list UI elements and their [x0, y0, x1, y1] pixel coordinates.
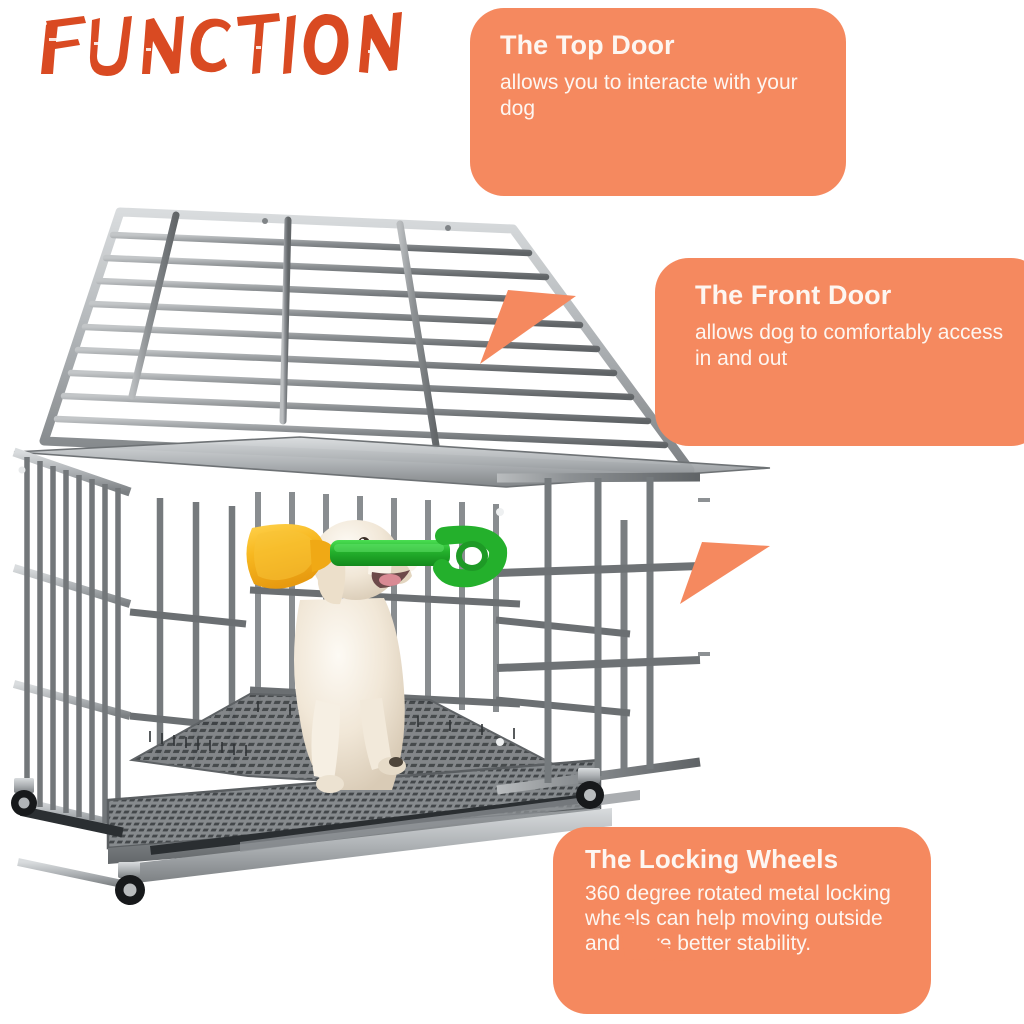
caster-wheel-front-right [576, 768, 604, 809]
left-side-panel [14, 452, 130, 828]
caster-wheel-rear-left [11, 778, 37, 816]
callout-locking-wheels-heading: The Locking Wheels [585, 845, 911, 875]
callout-front-door-body: allows dog to comfortably access in and … [695, 320, 1019, 372]
infographic-canvas: The Top Door allows you to interacte wit… [0, 0, 1024, 1024]
callout-front-door: The Front Door allows dog to comfortably… [655, 258, 1024, 446]
callout-locking-wheels: The Locking Wheels 360 degree rotated me… [553, 827, 931, 1014]
callout-top-door: The Top Door allows you to interacte wit… [470, 8, 846, 196]
callout-top-door-body: allows you to interacte with your dog [500, 70, 820, 122]
front-door-panel [496, 476, 710, 790]
callout-top-door-heading: The Top Door [500, 30, 820, 61]
callout-front-door-heading: The Front Door [695, 280, 1019, 311]
